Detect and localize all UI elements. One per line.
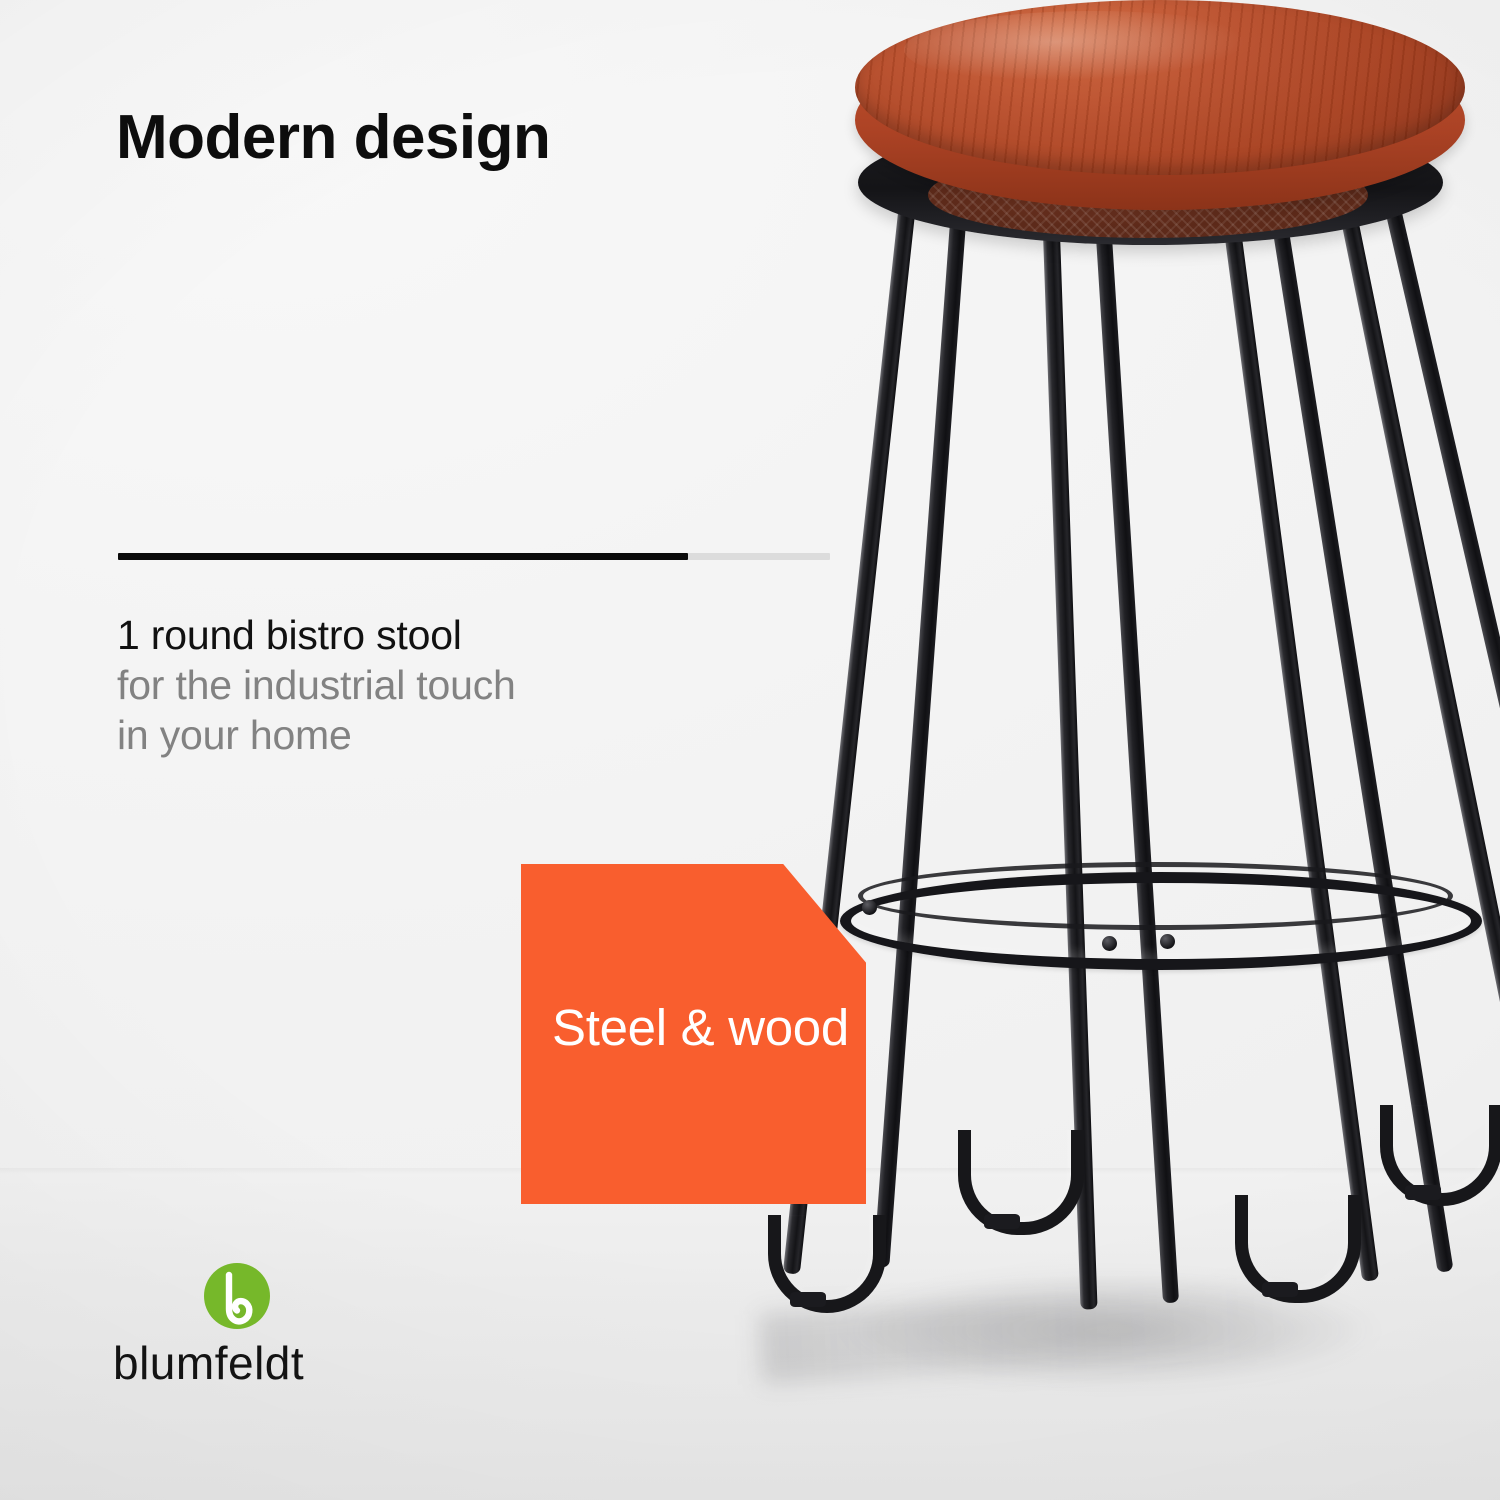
description-line-3: in your home <box>117 710 516 760</box>
brand-logo: blumfeldt <box>113 1262 363 1392</box>
seat-wood-top <box>855 0 1465 175</box>
seat-highlight <box>904 11 1282 88</box>
page-title: Modern design <box>116 105 550 170</box>
ring-bolt <box>862 900 877 915</box>
blumfeldt-leaf-circle-icon <box>203 1262 271 1330</box>
brand-wordmark: blumfeldt <box>113 1340 304 1386</box>
leg-u-bend <box>958 1130 1084 1235</box>
footrest-ring-inner <box>858 862 1453 930</box>
product-image-bistro-stool <box>690 0 1500 1500</box>
description-lead: 1 round bistro stool <box>117 610 516 660</box>
progress-divider <box>118 553 830 560</box>
leg-rod <box>1094 204 1179 1303</box>
ring-bolt <box>1102 936 1117 951</box>
description-line-2: for the industrial touch <box>117 660 516 710</box>
marketing-banner: Modern design 1 round bistro stool for t… <box>0 0 1500 1500</box>
leg-foot-cap <box>1262 1282 1298 1297</box>
ring-bolt <box>1160 934 1175 949</box>
leg-foot-cap <box>1405 1185 1441 1200</box>
product-description: 1 round bistro stool for the industrial … <box>117 610 516 760</box>
material-badge-label: Steel & wood <box>552 998 835 1057</box>
material-badge: Steel & wood <box>521 864 866 1204</box>
leg-foot-cap <box>984 1214 1020 1229</box>
progress-divider-fill <box>118 553 688 560</box>
leg-foot-cap <box>790 1292 826 1307</box>
